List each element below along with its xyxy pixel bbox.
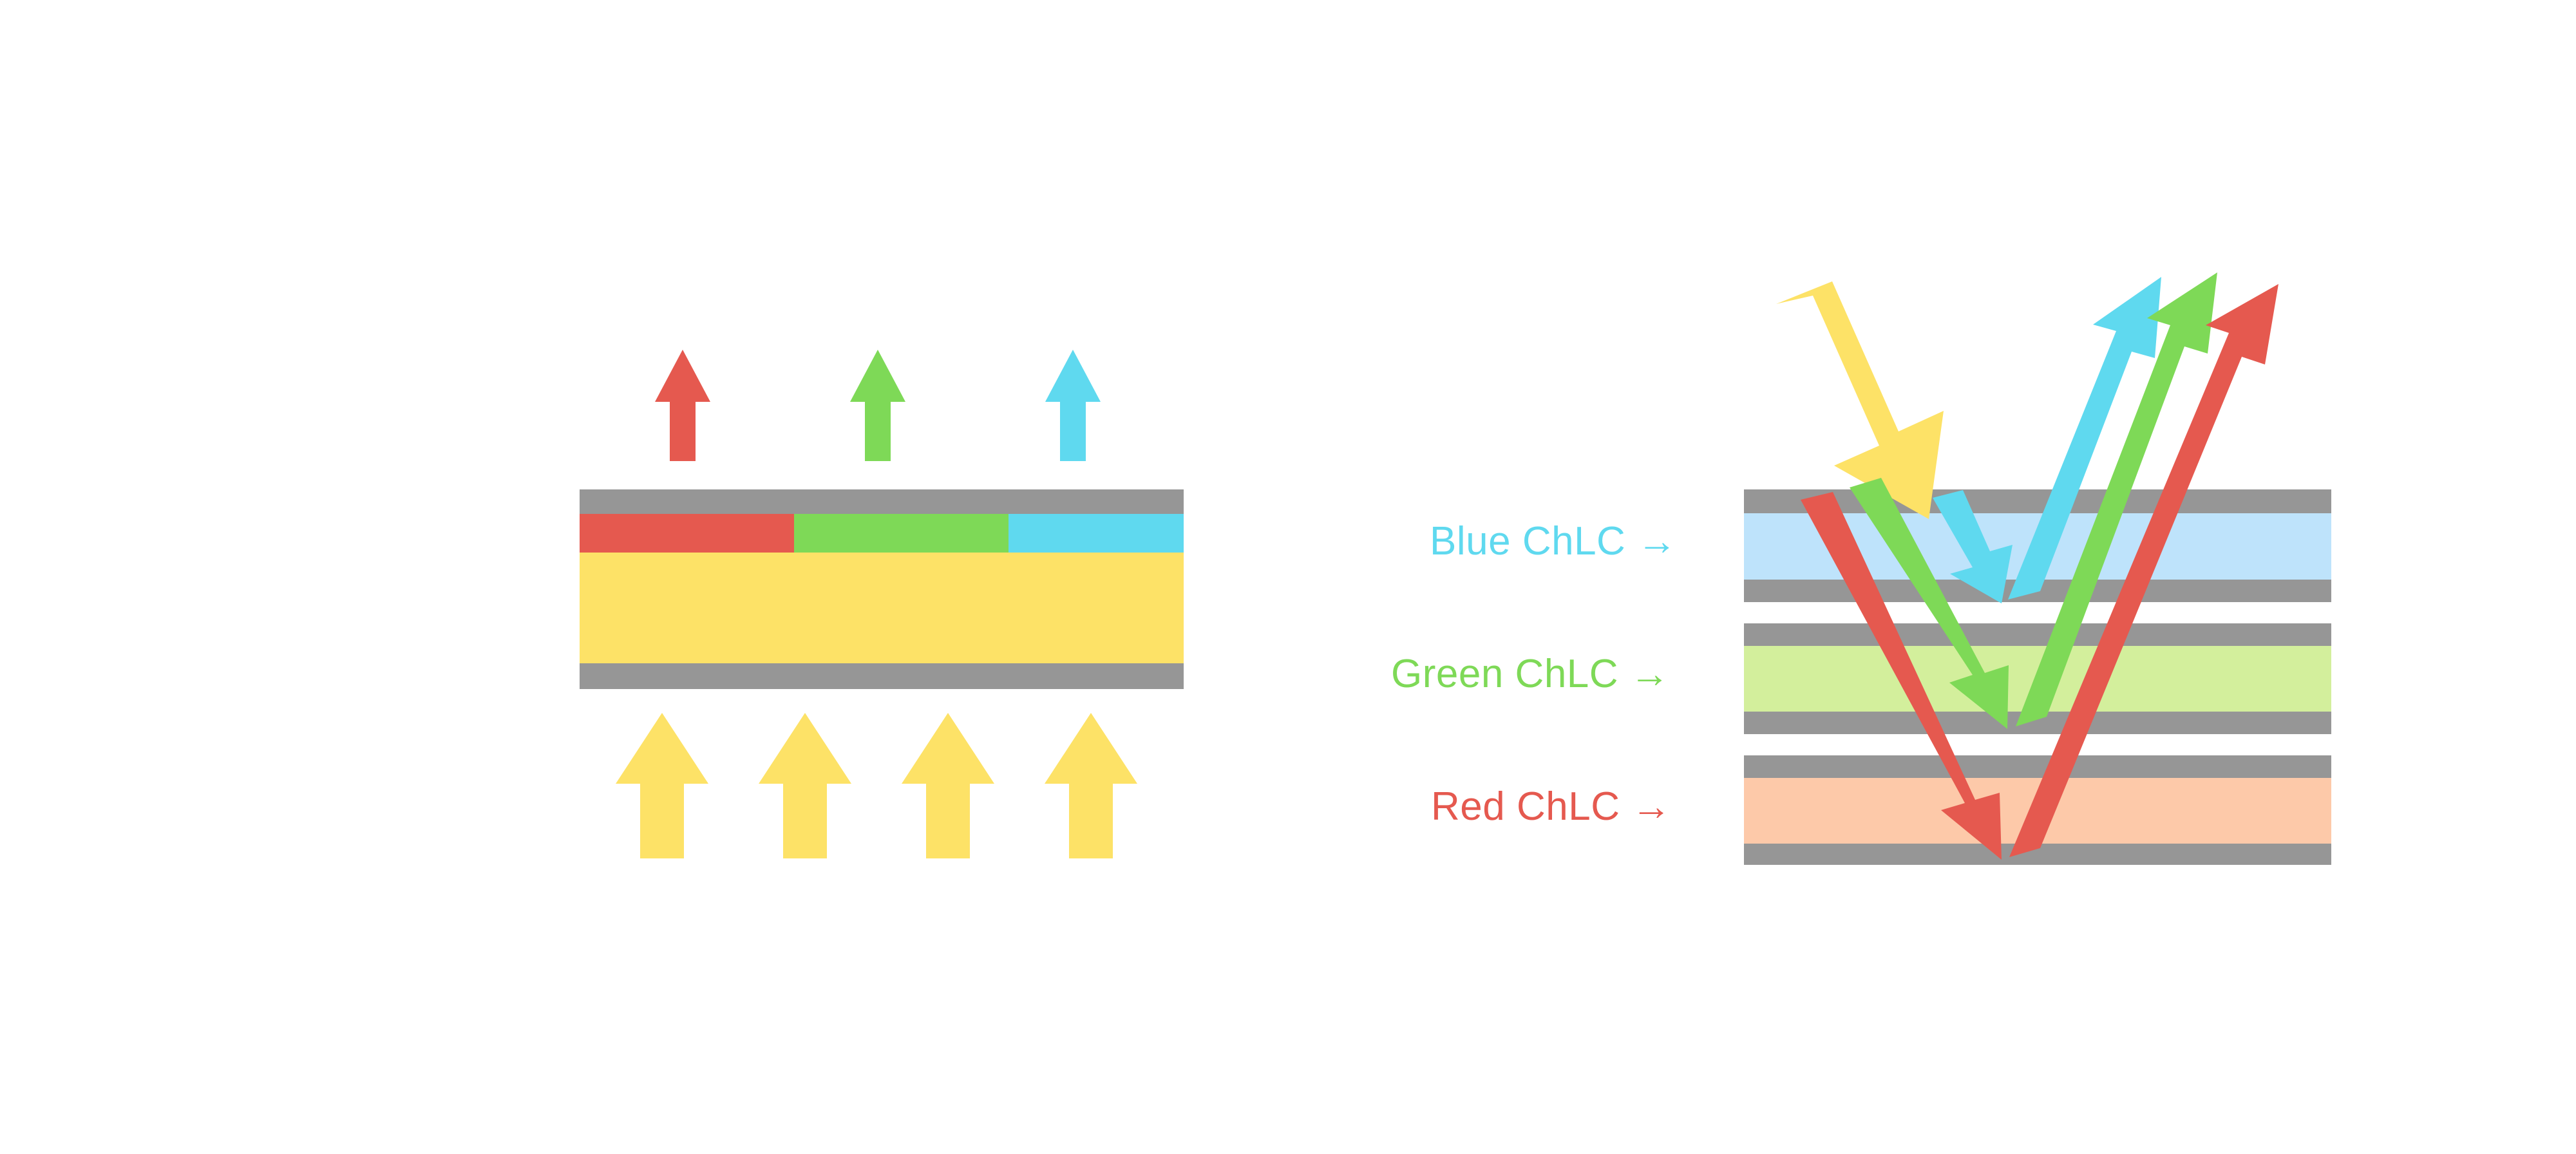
backlight-arrow [759,713,851,858]
green-chlc-label-text: Green ChLC → [1391,652,1670,696]
emitted-red-arrow [655,350,710,461]
filter-green [794,514,1009,553]
emitted-light-arrows-group [655,350,1101,461]
red-top-electrode [1744,755,2331,778]
backlight-layer [580,553,1184,663]
right-panel-svg [1288,0,2576,1154]
ambient-light-arrow [1776,281,1944,519]
filter-blue [1009,514,1184,553]
bottom-electrode [580,663,1184,689]
diagram-canvas: Blue ChLC → Green ChLC → Red ChLC → [0,0,2576,1154]
blue-chlc-label-text: Blue ChLC → [1430,519,1678,563]
green-top-electrode [1744,623,2331,646]
green-chlc-label: Green ChLC → [1391,654,1670,694]
emitted-green-arrow [850,350,905,461]
right-panel-reflective-stack: Blue ChLC → Green ChLC → Red ChLC → [1288,0,2576,1154]
backlight-arrow [902,713,994,858]
backlight-arrow [616,713,708,858]
left-panel-transmissive-stack [0,0,1288,1154]
left-device-stack [580,489,1184,689]
backlight-arrow [1045,713,1137,858]
red-chlc-label: Red ChLC → [1431,787,1672,827]
gap-green-red [1744,734,2331,755]
blue-chlc-label: Blue ChLC → [1430,522,1678,562]
filter-red [580,514,794,553]
red-chlc-label-text: Red ChLC → [1431,784,1672,829]
rgb-color-filter [580,514,1184,553]
emitted-cyan-arrow [1045,350,1101,461]
top-electrode [580,489,1184,514]
gap-blue-green [1744,602,2331,623]
backlight-arrows [616,713,1137,858]
left-panel-svg [0,0,1288,1154]
